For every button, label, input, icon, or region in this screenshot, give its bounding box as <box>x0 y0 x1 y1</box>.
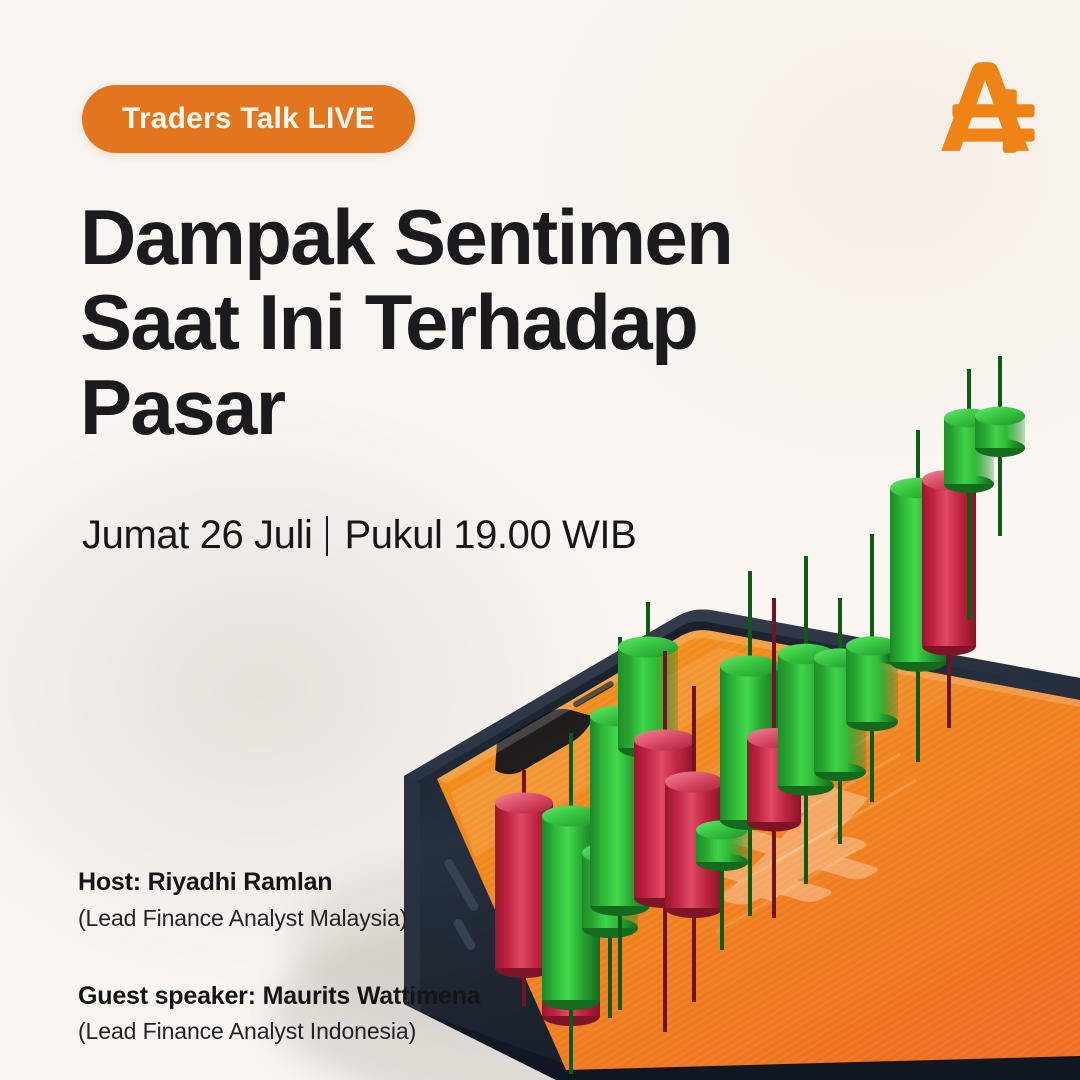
host-role: (Lead Finance Analyst Malaysia) <box>78 903 548 934</box>
guest-role: (Lead Finance Analyst Indonesia) <box>78 1016 548 1047</box>
headline-line-2: Saat Ini Terhadap <box>80 280 840 365</box>
candle-4 <box>582 753 638 1018</box>
candle-12 <box>778 556 834 884</box>
poster-canvas: Traders Talk LIVE Dampak Sentimen Saat I… <box>0 0 1080 1080</box>
candle-2 <box>542 823 600 1052</box>
candle-17 <box>944 369 994 620</box>
guest-credit: Guest speaker: Maurits Wattimena (Lead F… <box>78 980 548 1048</box>
candle-16 <box>922 424 976 728</box>
candle-14 <box>846 534 898 802</box>
candle-10 <box>720 571 780 916</box>
event-time: Pukul 19.00 WIB <box>344 513 636 558</box>
candle-15 <box>890 430 946 762</box>
candle-11 <box>747 598 801 918</box>
speakers-list: Host: Riyadhi Ramlan (Lead Finance Analy… <box>78 866 548 1047</box>
candle-13 <box>814 598 866 844</box>
candle-5 <box>590 637 650 1010</box>
datetime-separator <box>326 516 328 556</box>
a-logo-icon <box>941 62 1034 153</box>
event-datetime: Jumat 26 Juli Pukul 19.00 WIB <box>82 513 636 558</box>
candle-18 <box>975 356 1025 536</box>
candle-9 <box>696 729 748 950</box>
headline-line-3: Pasar <box>80 365 840 450</box>
candle-7 <box>634 651 696 1032</box>
candle-6 <box>618 602 678 896</box>
candlestick-group <box>495 356 1025 1074</box>
brand-logo <box>930 52 1042 164</box>
badge-label: Traders Talk LIVE <box>122 102 375 136</box>
page-title: Dampak Sentimen Saat Ini Terhadap Pasar <box>80 195 840 450</box>
event-date: Jumat 26 Juli <box>82 513 312 558</box>
traders-talk-live-badge[interactable]: Traders Talk LIVE <box>82 85 415 153</box>
guest-name: Guest speaker: Maurits Wattimena <box>78 980 548 1013</box>
host-credit: Host: Riyadhi Ramlan (Lead Finance Analy… <box>78 866 548 934</box>
candle-8 <box>665 686 723 1002</box>
candle-3 <box>542 733 600 1074</box>
host-name: Host: Riyadhi Ramlan <box>78 866 548 899</box>
headline-line-1: Dampak Sentimen <box>80 195 840 280</box>
